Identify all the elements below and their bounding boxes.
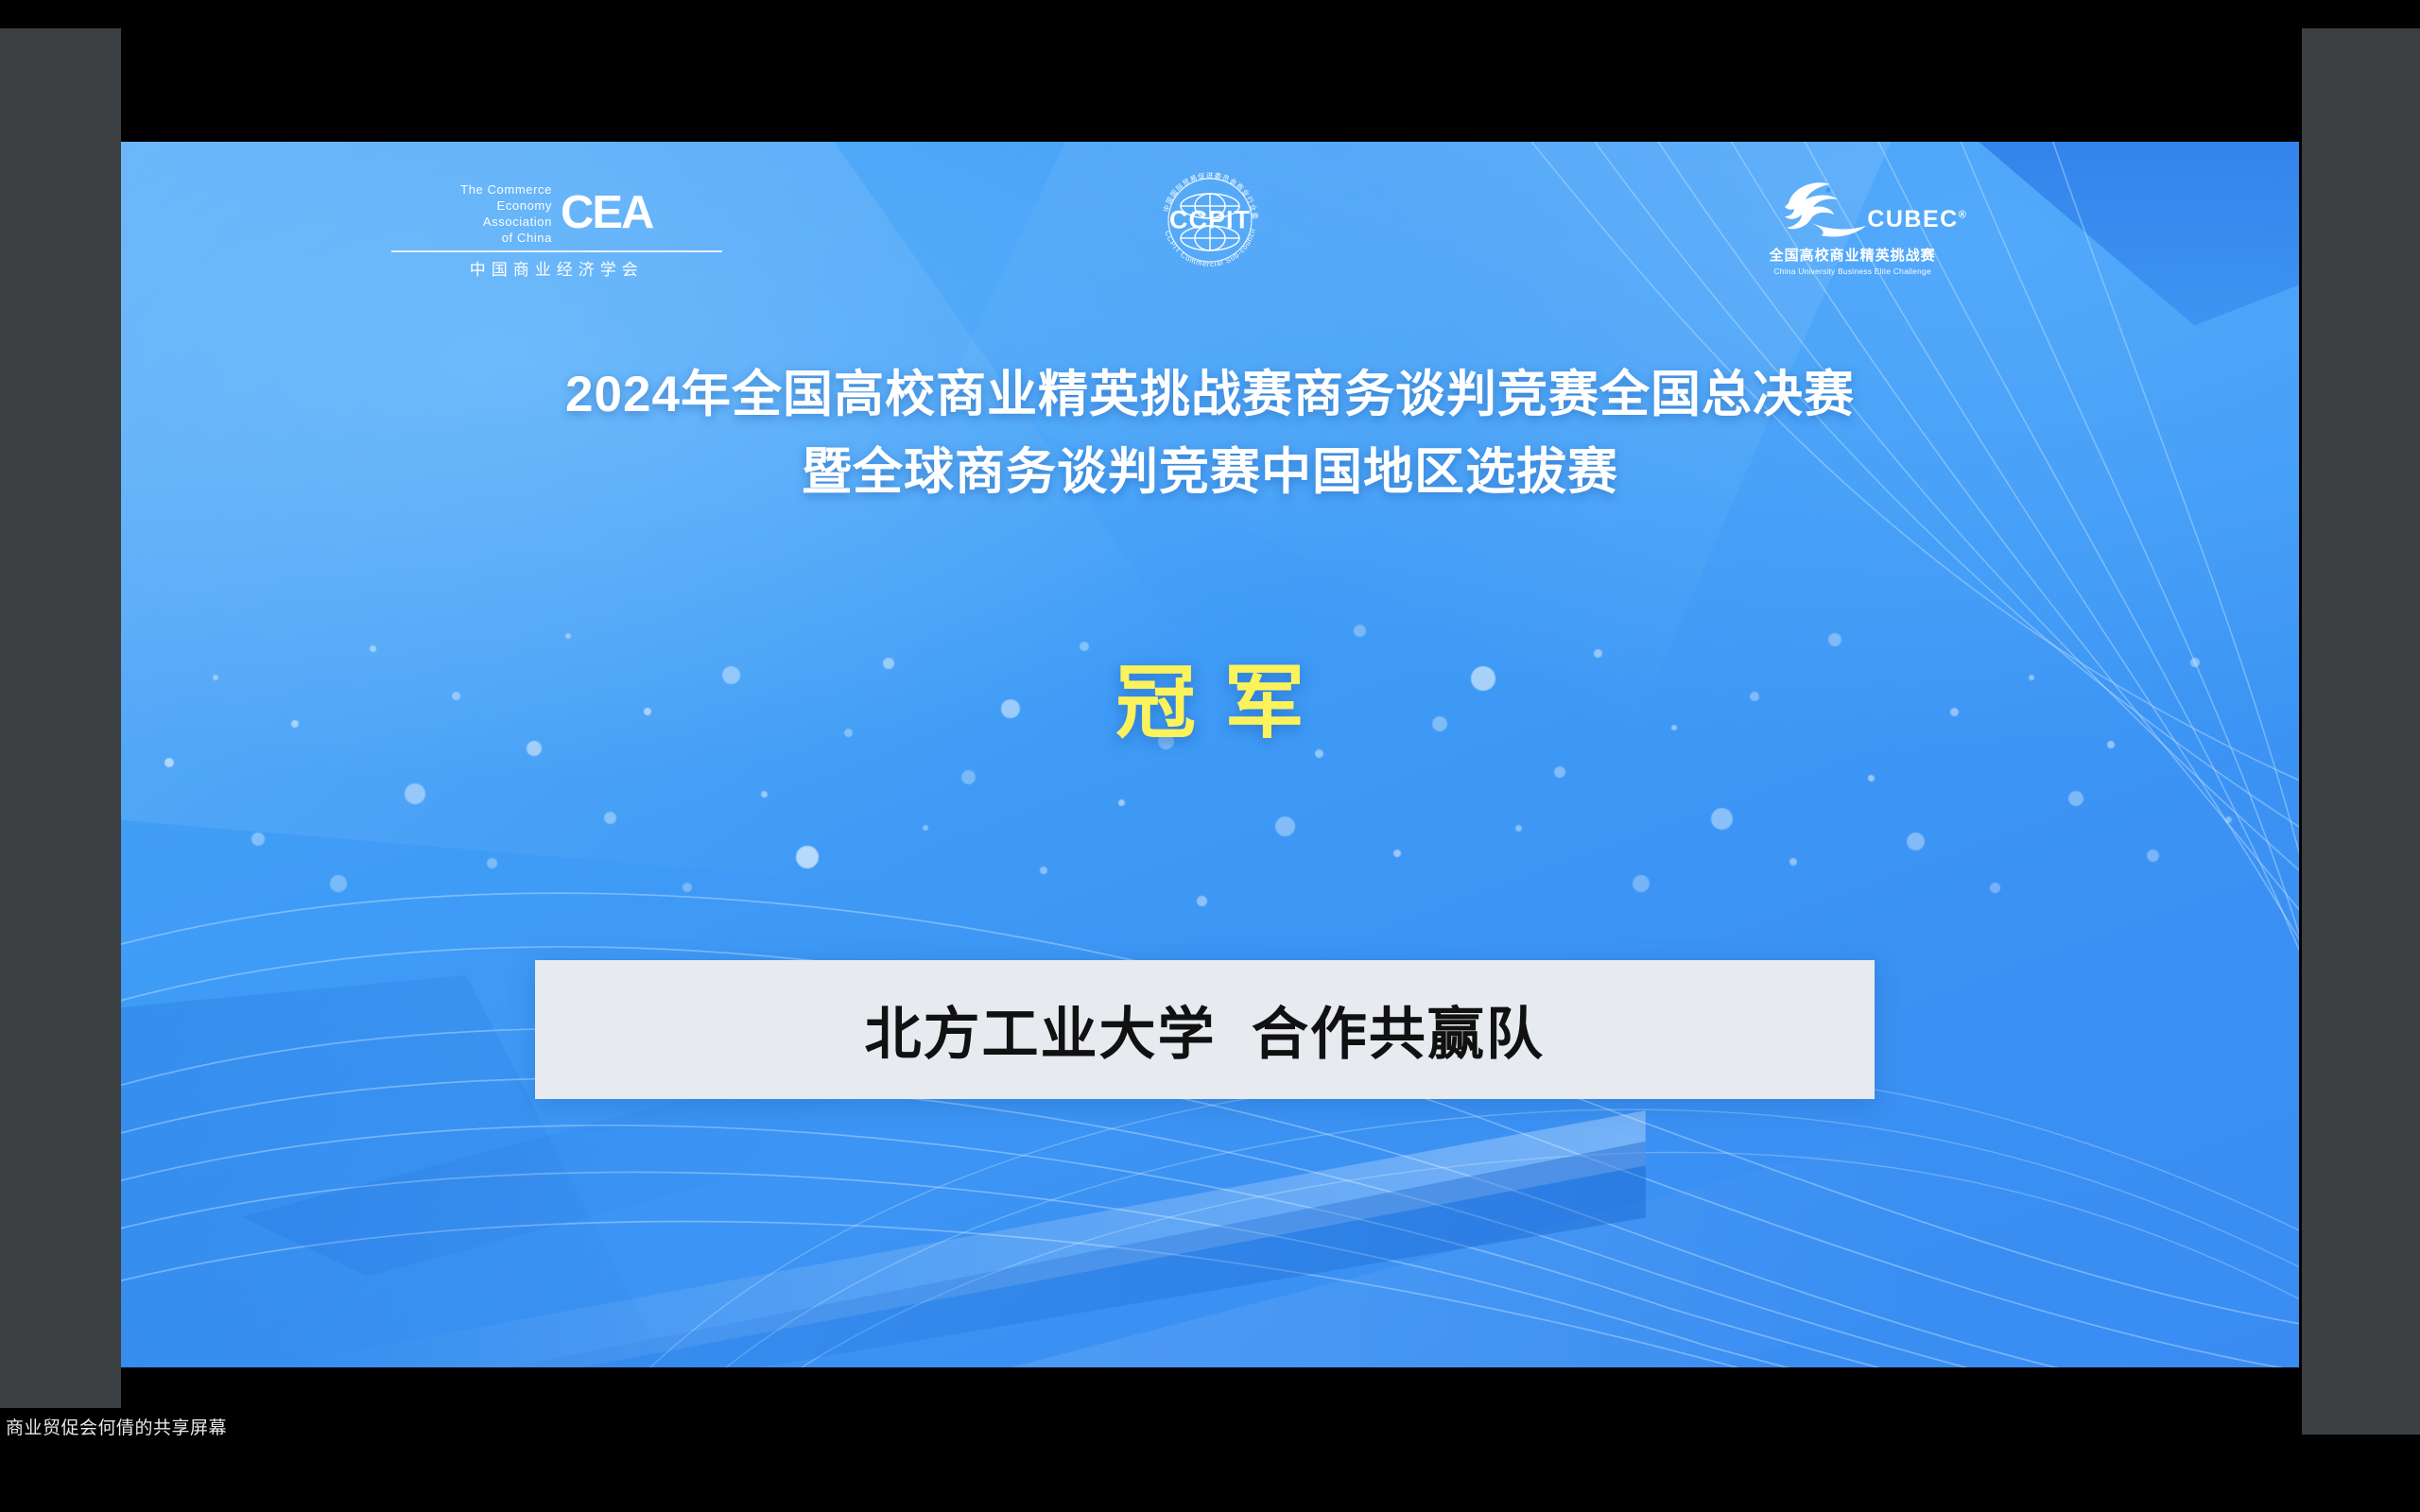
cubec-chinese-name: 全国高校商业精英挑战赛: [1668, 245, 2038, 265]
sponsor-logo-row: The Commerce Economy Association of Chin…: [121, 181, 2299, 329]
title-line-1: 2024年全国高校商业精英挑战赛商务谈判竞赛全国总决赛: [121, 356, 2299, 434]
cubec-english-name: China University Business Elite Challeng…: [1668, 266, 2038, 276]
cubec-logo: CUBEC® 全国高校商业精英挑战赛 China University Busi…: [1668, 175, 2038, 276]
ccpit-logo: 中国国际贸易促进委员会商业行业委员会 CCPIT Commercial Sub-…: [1014, 164, 1407, 276]
slide-title: 2024年全国高校商业精英挑战赛商务谈判竞赛全国总决赛 暨全球商务谈判竞赛中国地…: [121, 356, 2299, 511]
title-line-2: 暨全球商务谈判竞赛中国地区选拔赛: [121, 434, 2299, 511]
screen-share-viewport: The Commerce Economy Association of Chin…: [0, 0, 2420, 1512]
award-rank-label: 冠军: [1087, 638, 1333, 754]
cea-logo: The Commerce Economy Association of Chin…: [338, 181, 774, 280]
cea-en-line-3: Association: [460, 214, 552, 230]
cea-wordmark: CEA: [561, 190, 652, 236]
winner-team-name: 北方工业大学 合作共赢队: [865, 988, 1545, 1071]
award-rank: 冠军: [121, 638, 2299, 754]
cea-en-line-2: Economy: [460, 198, 552, 214]
ccpit-wordmark: CCPIT: [1154, 206, 1266, 235]
shared-slide: The Commerce Economy Association of Chin…: [121, 142, 2299, 1367]
cubec-wordmark: CUBEC®: [1867, 206, 1967, 233]
meeting-chrome-right-panel: [2302, 28, 2420, 1435]
winner-panel: 北方工业大学 合作共赢队: [535, 960, 1875, 1099]
cea-chinese-name: 中国商业经济学会: [338, 256, 774, 280]
cea-divider-rule: [391, 250, 722, 252]
cea-en-line-1: The Commerce: [460, 181, 552, 198]
cea-english-name: The Commerce Economy Association of Chin…: [460, 181, 552, 247]
registered-trademark-icon: ®: [1959, 210, 1968, 221]
cea-en-line-4: of China: [460, 230, 552, 246]
screen-share-caption: 商业贸促会何倩的共享屏幕: [6, 1414, 227, 1439]
background-ribbon-wedges: [295, 1098, 1645, 1367]
meeting-chrome-left-panel: [0, 28, 121, 1408]
